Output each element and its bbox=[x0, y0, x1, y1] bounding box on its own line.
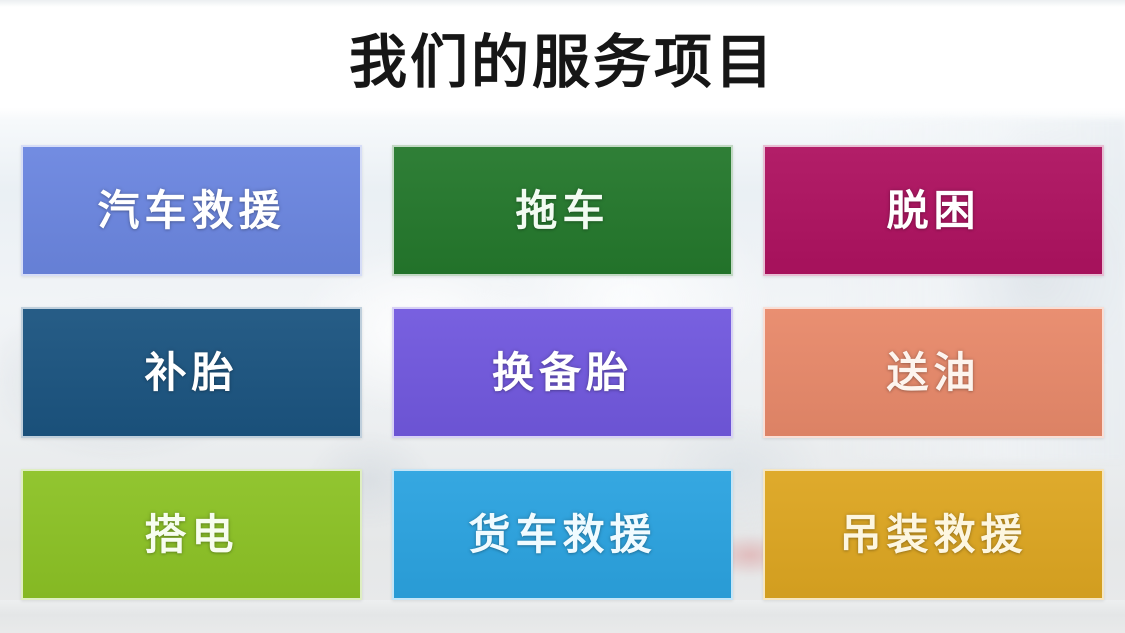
service-poster: 我们的服务项目 汽车救援 拖车 脱困 补胎 换备胎 送油 搭电 货车救援 吊装救… bbox=[0, 0, 1125, 633]
service-tile-label: 拖车 bbox=[515, 190, 609, 232]
service-tile-label: 补胎 bbox=[144, 352, 238, 394]
service-tile-label: 送油 bbox=[886, 352, 980, 394]
service-tile-grid: 汽车救援 拖车 脱困 补胎 换备胎 送油 搭电 货车救援 吊装救援 bbox=[21, 145, 1104, 600]
service-tile-label: 货车救援 bbox=[468, 514, 656, 556]
service-tile-spare-tire-change[interactable]: 换备胎 bbox=[392, 307, 733, 438]
service-tile-fuel-delivery[interactable]: 送油 bbox=[763, 307, 1104, 438]
background-road-strip bbox=[0, 600, 1125, 633]
service-tile-towing[interactable]: 拖车 bbox=[392, 145, 733, 276]
background-top-edge bbox=[0, 0, 1125, 7]
service-tile-label: 换备胎 bbox=[492, 352, 633, 394]
service-tile-tire-repair[interactable]: 补胎 bbox=[21, 307, 362, 438]
service-tile-jump-start[interactable]: 搭电 bbox=[21, 469, 362, 600]
service-tile-crane-rescue[interactable]: 吊装救援 bbox=[763, 469, 1104, 600]
page-title-bar: 我们的服务项目 bbox=[0, 16, 1125, 108]
service-tile-extrication[interactable]: 脱困 bbox=[763, 145, 1104, 276]
service-tile-label: 汽车救援 bbox=[97, 190, 285, 232]
service-tile-truck-rescue[interactable]: 货车救援 bbox=[392, 469, 733, 600]
service-tile-label: 吊装救援 bbox=[839, 514, 1027, 556]
page-title: 我们的服务项目 bbox=[349, 33, 776, 91]
service-tile-label: 脱困 bbox=[886, 190, 980, 232]
service-tile-label: 搭电 bbox=[144, 514, 238, 556]
service-tile-car-rescue[interactable]: 汽车救援 bbox=[21, 145, 362, 276]
